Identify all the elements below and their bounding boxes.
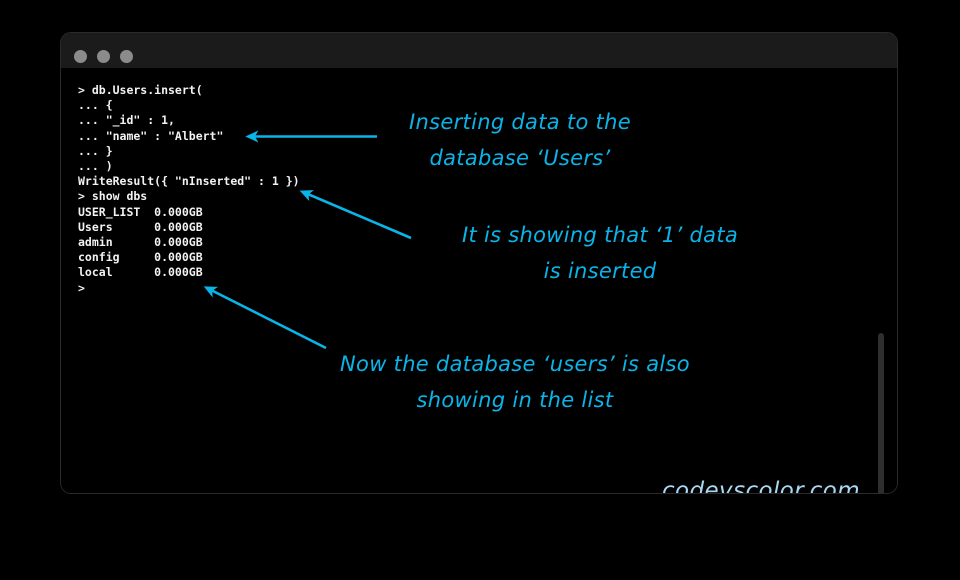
annotation-inserted-count: It is showing that ‘1’ data is inserted: [415, 217, 785, 289]
annotation-database-in-list: Now the database ‘users’ is also showing…: [295, 346, 735, 418]
annotation-inserting-data: Inserting data to the database ‘Users’: [345, 104, 695, 176]
maximize-window-icon[interactable]: [120, 50, 133, 63]
minimize-window-icon[interactable]: [97, 50, 110, 63]
scrollbar-thumb[interactable]: [878, 333, 884, 493]
close-window-icon[interactable]: [74, 50, 87, 63]
screenshot-root: > db.Users.insert( ... { ... "_id" : 1, …: [0, 0, 960, 580]
vertical-scrollbar[interactable]: [878, 308, 884, 493]
window-titlebar[interactable]: [61, 33, 897, 68]
watermark: codevscolor.com: [656, 478, 866, 493]
console-output: > db.Users.insert( ... { ... "_id" : 1, …: [78, 83, 300, 296]
